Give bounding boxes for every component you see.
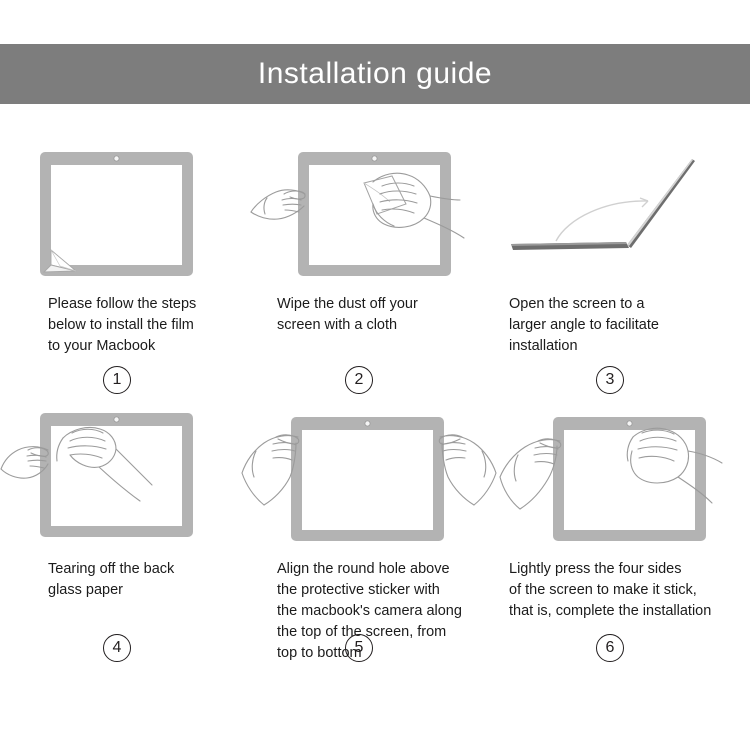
caption-line: the protective sticker with <box>277 580 496 601</box>
caption-line: of the screen to make it stick, <box>509 580 750 601</box>
step-number: 3 <box>606 372 615 388</box>
step-number-badge-6: 6 <box>596 634 624 662</box>
caption-line: screen with a cloth <box>277 315 496 336</box>
installation-guide-page: Installation guide Please follow the <box>0 0 750 750</box>
caption-line: to your Macbook <box>48 336 242 357</box>
caption-line: Wipe the dust off your <box>277 294 496 315</box>
step-6-illustration <box>496 403 750 553</box>
step-number-badge-3: 3 <box>596 366 624 394</box>
step-number-badge-2: 2 <box>345 366 373 394</box>
caption-line: Align the round hole above <box>277 559 496 580</box>
caption-line: the macbook's camera along <box>277 601 496 622</box>
caption-line: that is, complete the installation <box>509 601 750 622</box>
caption-line: Open the screen to a <box>509 294 750 315</box>
step-number: 2 <box>355 372 364 388</box>
step-1-illustration <box>0 138 242 288</box>
caption-line: the top of the screen, from <box>277 622 496 643</box>
step-card-3: Open the screen to a larger angle to fac… <box>496 126 750 391</box>
step-5-illustration <box>242 403 496 553</box>
caption-line: glass paper <box>48 580 242 601</box>
step-4-caption: Tearing off the back glass paper <box>0 559 242 601</box>
caption-line: installation <box>509 336 750 357</box>
step-2-illustration <box>242 138 496 288</box>
caption-line: below to install the film <box>48 315 242 336</box>
caption-line: larger angle to facilitate <box>509 315 750 336</box>
step-card-2: Wipe the dust off your screen with a clo… <box>242 126 496 391</box>
step-number-badge-4: 4 <box>103 634 131 662</box>
step-2-caption: Wipe the dust off your screen with a clo… <box>242 294 496 336</box>
step-3-illustration <box>496 138 750 288</box>
step-4-illustration <box>0 403 242 553</box>
caption-line: Tearing off the back <box>48 559 242 580</box>
caption-line: top to bottom <box>277 643 496 664</box>
step-6-caption: Lightly press the four sides of the scre… <box>496 559 750 622</box>
header-band: Installation guide <box>0 44 750 104</box>
step-number: 4 <box>113 640 122 656</box>
step-card-6: Lightly press the four sides of the scre… <box>496 391 750 691</box>
step-card-4: Tearing off the back glass paper 4 <box>0 391 242 691</box>
page-title: Installation guide <box>258 59 492 89</box>
step-card-5: Align the round hole above the protectiv… <box>242 391 496 691</box>
caption-line: Please follow the steps <box>48 294 242 315</box>
steps-grid: Please follow the steps below to install… <box>0 126 750 726</box>
step-number-badge-5: 5 <box>345 634 373 662</box>
step-number-badge-1: 1 <box>103 366 131 394</box>
step-card-1: Please follow the steps below to install… <box>0 126 242 391</box>
caption-line: Lightly press the four sides <box>509 559 750 580</box>
step-3-caption: Open the screen to a larger angle to fac… <box>496 294 750 357</box>
step-1-caption: Please follow the steps below to install… <box>0 294 242 357</box>
step-number: 1 <box>113 372 122 388</box>
step-number: 6 <box>606 640 615 656</box>
step-number: 5 <box>355 640 364 656</box>
